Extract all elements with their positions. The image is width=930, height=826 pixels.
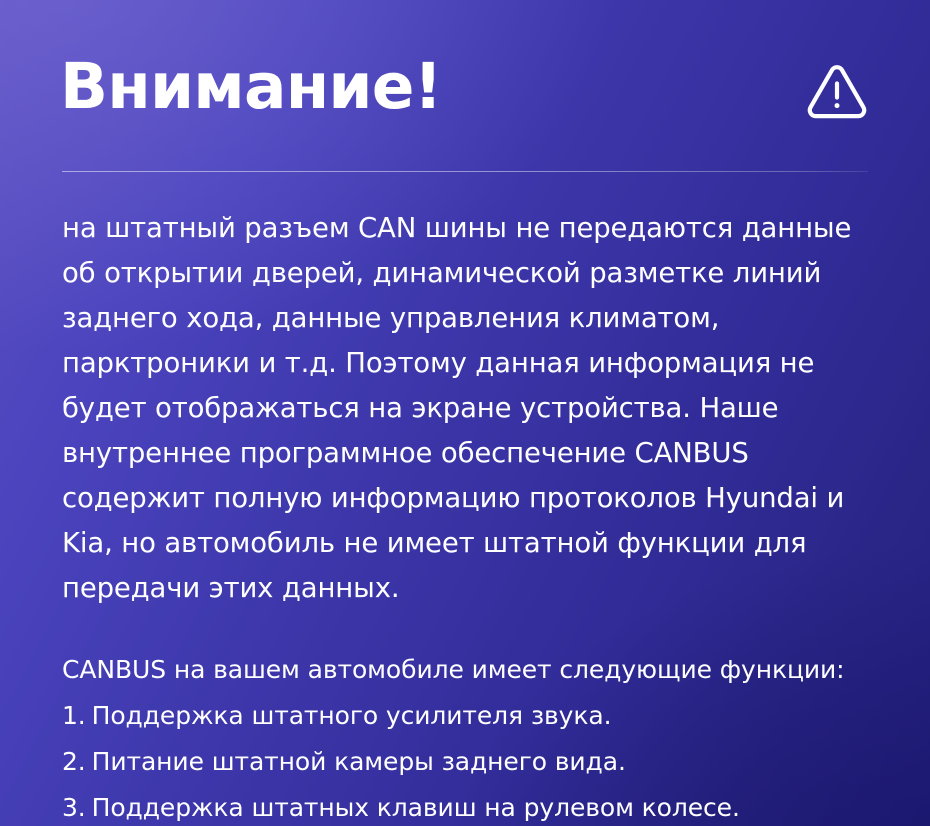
banner-header: Внимание! <box>60 48 868 144</box>
page-title: Внимание! <box>60 48 442 126</box>
warning-triangle-icon <box>806 62 868 122</box>
list-item: 3.Поддержка штатных клавиш на рулевом ко… <box>62 785 878 826</box>
list-item-number: 3. <box>62 793 86 822</box>
list-item-label: Питание штатной камеры заднего вида. <box>92 747 626 776</box>
list-item-label: Поддержка штатных клавиш на рулевом коле… <box>92 793 740 822</box>
banner-content: на штатный разъем CAN шины не передаются… <box>62 206 878 826</box>
functions-list-intro: CANBUS на вашем автомобиле имеет следующ… <box>62 647 878 693</box>
list-item: 1.Поддержка штатного усилителя звука. <box>62 693 878 739</box>
notice-paragraph: на штатный разъем CAN шины не передаются… <box>62 206 878 611</box>
list-item-number: 2. <box>62 747 86 776</box>
warning-notice-banner: Внимание! на штатный разъем CAN шины не … <box>0 0 930 826</box>
list-item: 2.Питание штатной камеры заднего вида. <box>62 739 878 785</box>
functions-list: 1.Поддержка штатного усилителя звука. 2.… <box>62 693 878 826</box>
section-spacer <box>62 611 878 647</box>
list-item-label: Поддержка штатного усилителя звука. <box>92 701 612 730</box>
header-divider <box>62 171 868 172</box>
list-item-number: 1. <box>62 701 86 730</box>
